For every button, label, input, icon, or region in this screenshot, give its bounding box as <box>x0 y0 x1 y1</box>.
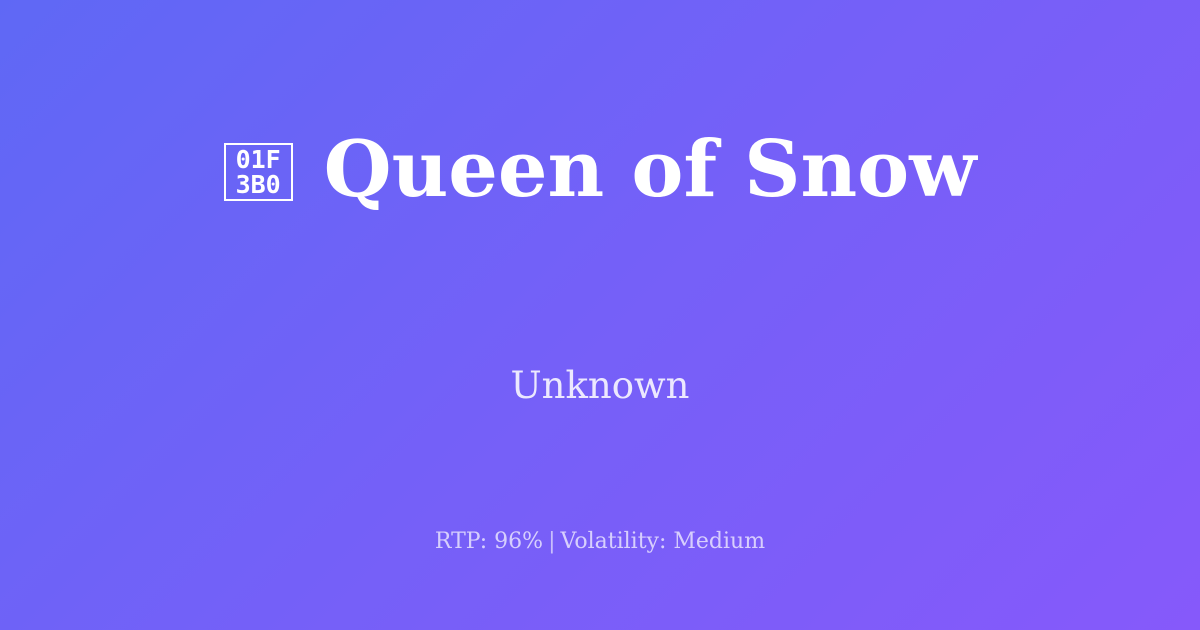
og-preview-card: 01F 3B0 Queen of Snow Unknown RTP: 96%|V… <box>0 0 1200 630</box>
game-title: Queen of Snow <box>324 127 977 213</box>
tofu-codepoint-bottom: 3B0 <box>236 172 281 197</box>
game-provider: Unknown <box>0 363 1200 409</box>
rtp-value: RTP: 96% <box>435 529 543 554</box>
tofu-codepoint-top: 01F <box>236 147 281 172</box>
slot-machine-icon: 01F 3B0 <box>224 143 293 201</box>
title-row: 01F 3B0 Queen of Snow <box>0 0 1200 340</box>
meta-separator: | <box>543 529 560 554</box>
game-meta: RTP: 96%|Volatility: Medium <box>0 527 1200 557</box>
volatility-value: Volatility: Medium <box>561 529 766 554</box>
